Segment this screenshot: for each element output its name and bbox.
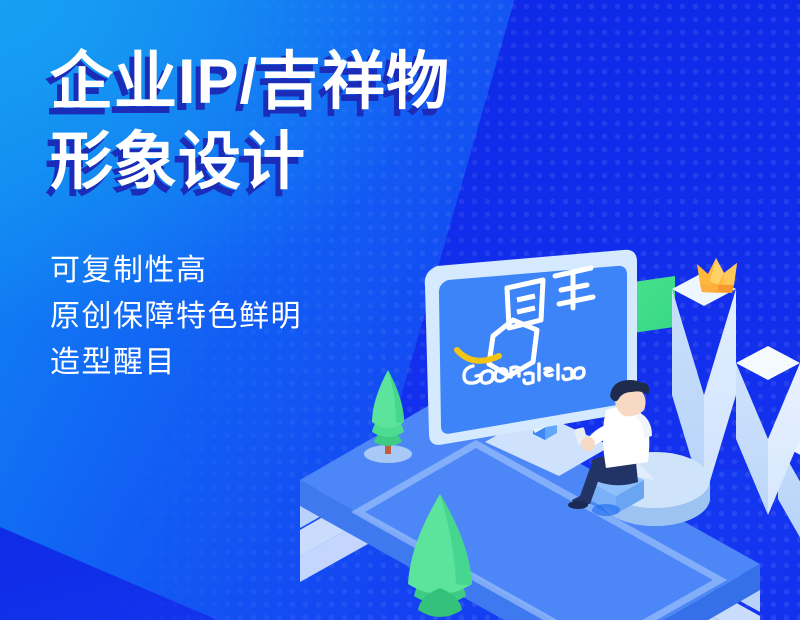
feature-item-1: 可复制性高 <box>50 248 450 294</box>
tree-icon <box>380 492 500 620</box>
background-panel-bottom-left <box>0 470 330 620</box>
copy-block: 企业IP/吉祥物 形象设计 可复制性高 原创保障特色鲜明 造型醒目 <box>50 42 450 386</box>
page-title-line-2: 形象设计 <box>50 122 450 202</box>
page-title-line-1: 企业IP/吉祥物 <box>50 42 450 122</box>
promo-banner: 企业IP/吉祥物 形象设计 可复制性高 原创保障特色鲜明 造型醒目 <box>0 0 800 620</box>
feature-item-2: 原创保障特色鲜明 <box>50 294 450 340</box>
feature-list: 可复制性高 原创保障特色鲜明 造型醒目 <box>50 248 450 386</box>
feature-item-3: 造型醒目 <box>50 340 450 386</box>
